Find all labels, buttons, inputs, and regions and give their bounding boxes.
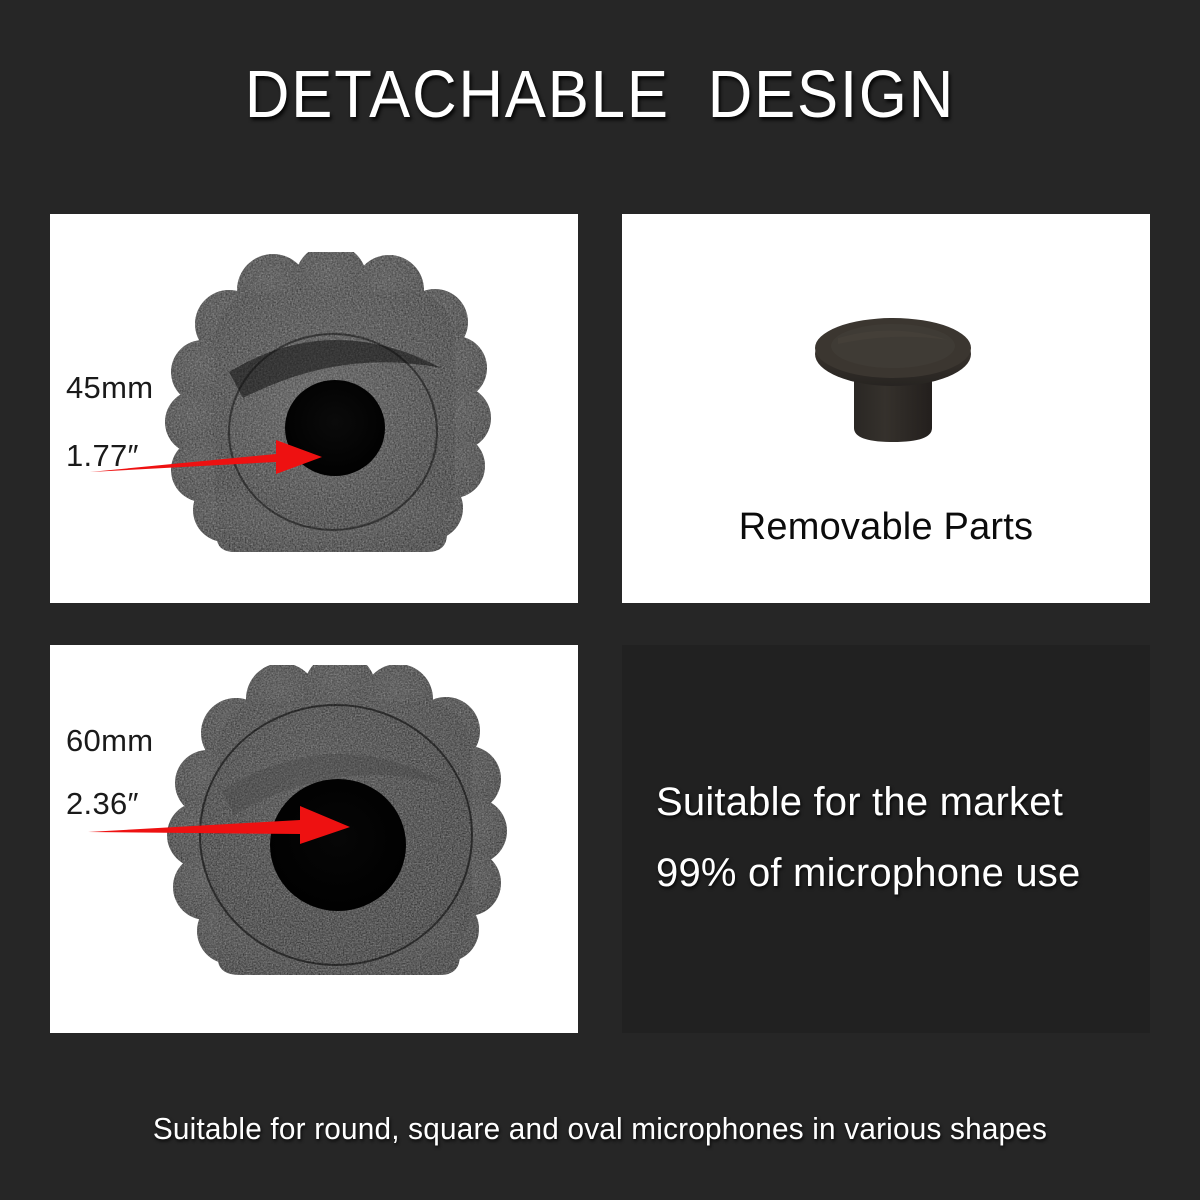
market-note-text: Suitable for the market 99% of microphon…	[656, 767, 1116, 909]
removable-foam-plug-image	[798, 302, 988, 462]
footer-caption: Suitable for round, square and oval micr…	[24, 1111, 1176, 1147]
panel-removable-parts: Removable Parts	[622, 214, 1150, 603]
removable-parts-caption: Removable Parts	[622, 506, 1150, 549]
measurement-label-mm: 45mm	[66, 370, 153, 406]
panel-windscreen-60mm: 60mm 2.36″	[50, 645, 578, 1033]
market-note-line-1: Suitable for the market	[656, 767, 1116, 838]
market-note-line-2: 99% of microphone use	[656, 838, 1116, 909]
panel-market-note: Suitable for the market 99% of microphon…	[622, 645, 1150, 1033]
page-title: DETACHABLE DESIGN	[48, 58, 1152, 132]
product-infographic: DETACHABLE DESIGN	[0, 0, 1200, 1200]
measurement-label-inch: 1.77″	[66, 438, 139, 474]
measurement-label-mm: 60mm	[66, 723, 153, 759]
foam-windscreen-with-cap-image	[155, 252, 495, 582]
measurement-label-inch: 2.36″	[66, 786, 139, 822]
foam-windscreen-without-cap-image	[160, 665, 510, 1010]
panel-windscreen-45mm: 45mm 1.77″	[50, 214, 578, 603]
